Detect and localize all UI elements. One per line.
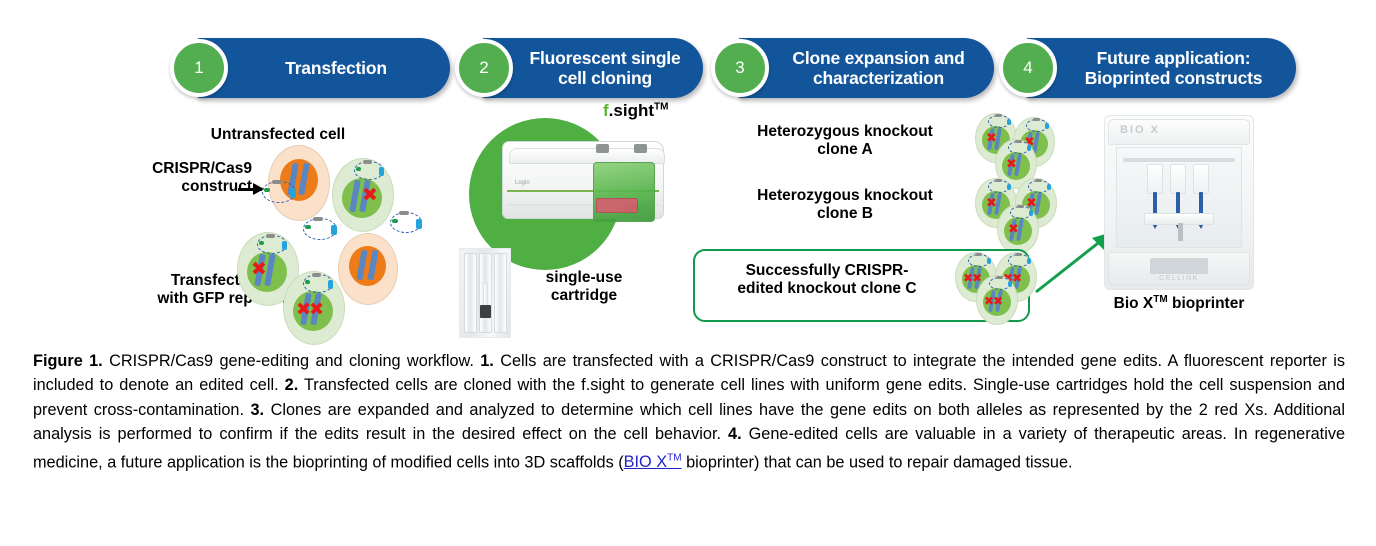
step-number-3: 3 [711, 39, 769, 97]
trademark-symbol: TM [667, 453, 681, 464]
plasmid-segment-green [392, 219, 398, 223]
caption-part-0: CRISPR/Cas9 gene-editing and cloning wor… [103, 352, 481, 370]
plasmid-construct [1026, 119, 1048, 132]
plasmid-segment-gray [1017, 205, 1024, 208]
plasmid-construct [257, 235, 287, 254]
step-banner-4: 4 Future application: Bioprinted constru… [1025, 38, 1296, 98]
printhead [1170, 164, 1186, 194]
plasmid-construct [968, 254, 990, 267]
plasmid-segment-gray [995, 179, 1002, 182]
plasmid-segment-gray [1035, 179, 1042, 182]
untransfected-cell-label: Untransfected cell [178, 126, 378, 144]
figure-caption: Figure 1. CRISPR/Cas9 gene-editing and c… [33, 349, 1345, 474]
plasmid-segment-blue [282, 241, 287, 250]
plasmid-segment-gray [266, 234, 275, 238]
plasmid-segment-gray [363, 160, 372, 164]
clone-cell: ✖ ✖ [976, 275, 1018, 325]
plasmid-segment-blue [1007, 184, 1011, 190]
plasmid-segment-blue [1045, 123, 1049, 129]
bioprinter-label-text: Bio X [1114, 295, 1154, 312]
plasmid-segment-gray [975, 253, 982, 256]
trademark-symbol: TM [1153, 294, 1167, 305]
red-x-marker: ✖ [251, 260, 267, 279]
transfected-cell-1: ✖ [332, 158, 394, 232]
plasmid-construct-free-3 [390, 212, 422, 233]
step-banner-1: 1 Transfection [196, 38, 450, 98]
plasmid-segment-green [264, 188, 270, 192]
instrument-screen-text: Login [515, 180, 530, 186]
crispr-construct-label: CRISPR/Cas9 construct [112, 160, 252, 196]
printer-top-brand-label: BIO X [1120, 124, 1160, 136]
step-number-4: 4 [999, 39, 1057, 97]
instrument-green-window [593, 162, 655, 222]
step-banner-2: 2 Fluorescent single cell cloning [481, 38, 703, 98]
plasmid-segment-gray [399, 211, 409, 215]
construct-arrow [238, 188, 262, 191]
bioprinter-image: BIO X CELLINK [1104, 115, 1254, 290]
plasmid-construct [989, 277, 1011, 290]
red-x-marker: ✖ [362, 186, 378, 205]
plasmid-segment-green [305, 280, 310, 284]
trademark-symbol: TM [654, 101, 668, 112]
plasmid-segment-gray [1015, 140, 1022, 143]
instrument-clamp [634, 144, 647, 153]
plasmid-segment-blue [379, 167, 384, 176]
cartridge-tube [464, 253, 477, 333]
caption-step-2-number: 2. [285, 376, 299, 394]
caption-figure-number: Figure 1. [33, 352, 103, 370]
nucleus [349, 246, 386, 286]
plasmid-construct [1008, 141, 1030, 154]
fsight-product-label: f.sightTM [603, 101, 668, 121]
bioprinter-label: Bio XTM bioprinter [1079, 291, 1279, 313]
plasmid-construct [303, 274, 333, 293]
step-label-2: Fluorescent single cell cloning [481, 48, 703, 88]
fsight-name-suffix: .sight [609, 101, 654, 120]
caption-part-5: bioprinter) that can be used to repair d… [682, 453, 1073, 471]
bio-x-link-text: BIO X [624, 453, 667, 471]
red-x-marker: ✖ [1008, 223, 1019, 236]
print-bed-post [1178, 223, 1183, 241]
plasmid-construct [988, 180, 1010, 193]
plasmid-segment-blue [987, 258, 991, 264]
instrument-body: Login cytena [502, 141, 664, 219]
plasmid-segment-blue [1029, 210, 1033, 216]
step-label-3: Clone expansion and characterization [737, 48, 994, 88]
untransfected-cell-2 [338, 233, 398, 305]
plasmid-segment-blue [331, 225, 337, 235]
caption-step-1-number: 1. [480, 352, 494, 370]
plasmid-segment-green [259, 241, 264, 245]
red-x-marker: ✖ [986, 197, 997, 210]
printhead [1193, 164, 1209, 194]
clone-a-label: Heterozygous knockout clone A [720, 123, 970, 159]
plasmid-construct-free-1 [262, 181, 296, 203]
plasmid-segment-blue [1008, 281, 1012, 287]
single-use-cartridge-image [459, 248, 511, 338]
step-number-2: 2 [455, 39, 513, 97]
cartridge-nozzle [480, 305, 491, 318]
figure-root: 1 Transfection 2 Fluorescent single cell… [0, 0, 1376, 546]
caption-step-4-number: 4. [728, 425, 742, 443]
plasmid-segment-blue [1007, 119, 1011, 125]
plasmid-segment-green [305, 225, 311, 229]
plasmid-segment-gray [1015, 253, 1022, 256]
plasmid-segment-blue [328, 280, 333, 289]
cartridge-label: single-use cartridge [521, 269, 647, 305]
plasmid-segment-gray [1033, 118, 1040, 121]
printer-glass-chamber [1116, 147, 1242, 248]
plasmid-segment-blue [1047, 184, 1051, 190]
clone-c-label: Successfully CRISPR- edited knockout clo… [707, 262, 947, 298]
instrument-clamp [596, 144, 609, 153]
red-x-marker: ✖ [993, 295, 1003, 307]
plasmid-construct [1010, 206, 1032, 219]
clone-b-label: Heterozygous knockout clone B [720, 187, 970, 223]
bioprinter-label-suffix: bioprinter [1168, 295, 1245, 312]
cellink-brand-label: CELLINK [1159, 275, 1199, 282]
plasmid-construct-free-2 [303, 218, 337, 240]
plasmid-segment-gray [995, 114, 1002, 117]
step-banner-3: 3 Clone expansion and characterization [737, 38, 994, 98]
transfected-cell-3: ✖ ✖ [283, 271, 345, 345]
plasmid-segment-blue [416, 219, 422, 229]
printer-base: CELLINK [1108, 252, 1250, 286]
microplate [596, 198, 638, 213]
plasmid-segment-gray [312, 273, 321, 277]
plasmid-construct [1028, 180, 1050, 193]
plasmid-segment-gray [996, 276, 1003, 279]
step-label-4: Future application: Bioprinted construct… [1025, 48, 1296, 88]
plasmid-construct [1008, 254, 1030, 267]
plasmid-segment-blue [1027, 145, 1031, 151]
plasmid-construct [354, 161, 384, 180]
printer-touchscreen [1150, 258, 1208, 274]
plasmid-segment-gray [272, 180, 282, 184]
plasmid-segment-blue [290, 188, 296, 198]
step-label-1: Transfection [196, 58, 450, 78]
cartridge-tube [494, 253, 507, 333]
red-x-marker: ✖ [309, 301, 324, 319]
plasmid-construct [988, 115, 1010, 128]
red-x-marker: ✖ [1006, 158, 1017, 171]
fsight-instrument-image: Login cytena [502, 127, 672, 227]
printer-gantry-rail [1123, 158, 1235, 162]
step-number-1: 1 [170, 39, 228, 97]
plasmid-segment-green [356, 167, 361, 171]
printhead [1147, 164, 1163, 194]
bio-x-hyperlink[interactable]: BIO XTM [624, 453, 682, 471]
caption-step-3-number: 3. [251, 401, 265, 419]
plasmid-segment-gray [313, 217, 323, 221]
